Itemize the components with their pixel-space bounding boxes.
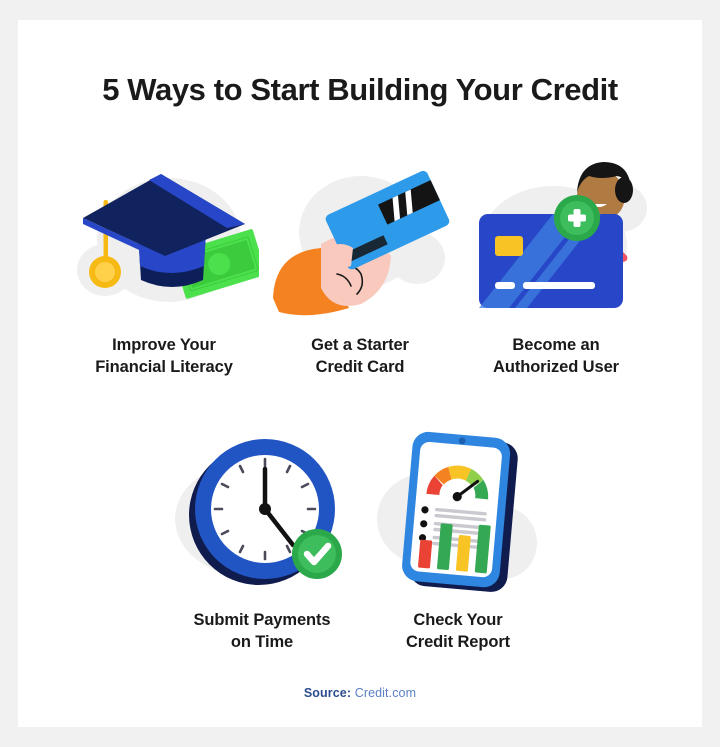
hand-holding-credit-card-icon [265, 148, 455, 328]
item-label: Submit Payments on Time [194, 609, 331, 654]
clock-check-icon [167, 423, 357, 603]
page-title: 5 Ways to Start Building Your Credit [18, 72, 702, 108]
phone-credit-report-icon [363, 423, 553, 603]
item-check-credit-report[interactable]: Check Your Credit Report [360, 423, 556, 654]
source-link[interactable]: Credit.com [355, 686, 416, 700]
item-get-starter-credit-card[interactable]: Get a Starter Credit Card [262, 148, 458, 379]
item-label: Improve Your Financial Literacy [95, 334, 233, 379]
item-improve-financial-literacy[interactable]: Improve Your Financial Literacy [66, 148, 262, 379]
item-label: Check Your Credit Report [406, 609, 510, 654]
item-label: Get a Starter Credit Card [311, 334, 409, 379]
source-label: Source: [304, 686, 351, 700]
item-label: Become an Authorized User [493, 334, 619, 379]
outer-frame: 5 Ways to Start Building Your Credit [0, 0, 720, 747]
credit-card-add-user-icon [461, 148, 651, 328]
icon-row-1: Improve Your Financial Literacy [18, 148, 702, 379]
icon-row-2: Submit Payments on Time [18, 423, 702, 654]
infographic-card: 5 Ways to Start Building Your Credit [18, 20, 702, 727]
source-attribution: Source: Credit.com [18, 686, 702, 700]
graduation-cap-money-icon [69, 148, 259, 328]
item-submit-payments-on-time[interactable]: Submit Payments on Time [164, 423, 360, 654]
item-become-authorized-user[interactable]: Become an Authorized User [458, 148, 654, 379]
